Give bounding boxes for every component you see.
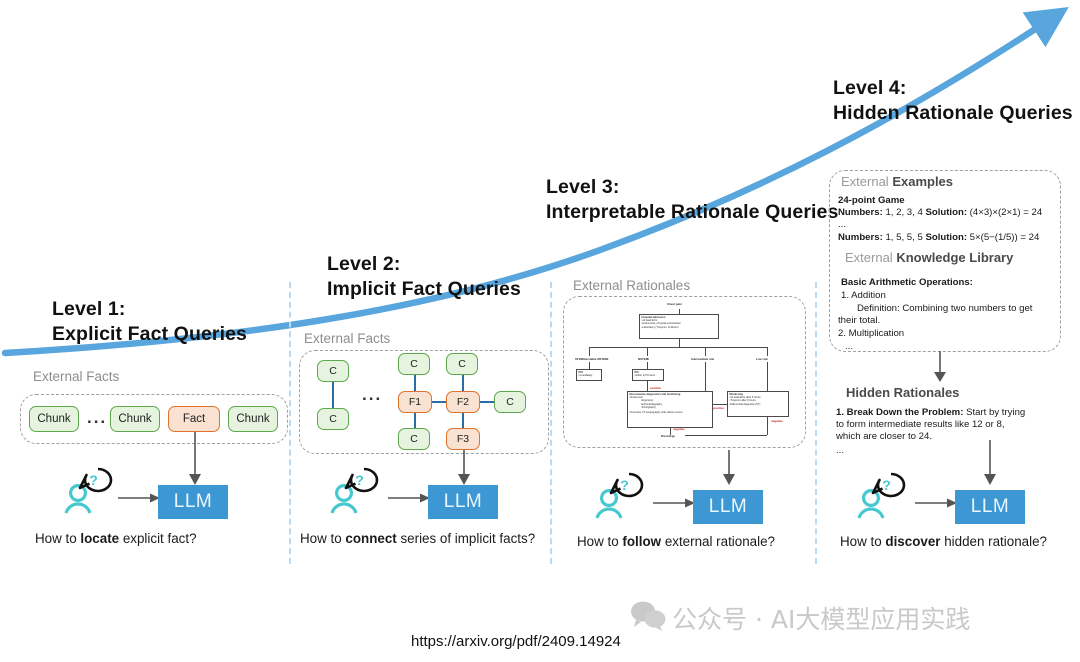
fc-admission-box: Hospital admission •12 lead ECG •Anamnes… (639, 314, 719, 339)
fc-mon-to-noninv (713, 404, 727, 405)
hidden-rationale-line3: which are closer to 24. (836, 430, 932, 444)
example-row-1-sol-key: Solution: (925, 207, 967, 218)
example-row-1-nums: 1, 2, 3, 4 (883, 207, 926, 218)
fc-admission-l3: •Laboratory (Troponin, D-Dimer) (642, 326, 717, 329)
hidden-rationale-ellipsis: ... (836, 444, 844, 458)
fc-stem-down (679, 339, 680, 347)
level-2-down-arrow (444, 450, 484, 488)
example-row-2: Numbers: 1, 5, 5, 5 Solution: 5×(5−(1/5)… (838, 231, 1039, 245)
level-3-section-label: External Rationales (573, 278, 690, 293)
fc-mon-down (767, 417, 768, 435)
level-1-heading: Level 1: Explicit Fact Queries (52, 297, 247, 347)
level-1-user-to-llm-arrow (118, 490, 162, 506)
fc-branch-3: Intermediate risk (691, 357, 714, 361)
graph-edge-a (332, 378, 334, 412)
graph-node-f1-label: F1 (409, 396, 421, 408)
svg-text:?: ? (355, 472, 364, 488)
level-1-question-caption: How to locate explicit fact? (35, 531, 197, 546)
chunk-chip-3-label: Chunk (236, 413, 269, 425)
kb-item-2: 2. Multiplication (838, 327, 904, 341)
panel-separator-2 (550, 282, 552, 564)
graph-node-c6-label: C (410, 433, 418, 445)
graph-node-f3-label: F3 (457, 433, 469, 445)
example-ellipsis: ... (838, 218, 846, 232)
chunk-chip-2: Chunk (110, 406, 160, 432)
fc-branch-2: NSTEMI (638, 357, 649, 361)
llm-box-4: LLM (955, 490, 1025, 524)
llm-box-1-label: LLM (174, 491, 212, 513)
clinical-flowchart: Chest pain Hospital admission •12 lead E… (575, 300, 797, 442)
level-4-caption-bold: discover (885, 534, 940, 549)
level-2-section-label: External Facts (304, 331, 390, 346)
kb-definition-line1: Definition: Combining two numbers to get (857, 302, 1032, 316)
level-1-caption-post: explicit fact? (119, 531, 196, 546)
fc-monitor-l3: •Differential diagnosis (CT) (730, 403, 787, 406)
wechat-logo-icon (629, 599, 667, 631)
graph-node-c1-label: C (329, 365, 337, 377)
level-1-caption-pre: How to (35, 531, 80, 546)
external-examples-dark: Examples (892, 174, 953, 189)
graph-node-c2-label: C (329, 413, 337, 425)
fc-monitoring-box: Monitoring •12 lead ECG after 6 hours •T… (727, 391, 789, 417)
graph-node-c5: C (494, 391, 526, 413)
level-4-panel-down-arrow (920, 351, 960, 385)
external-examples-grey: External (841, 174, 892, 189)
svg-text:?: ? (620, 477, 629, 493)
chunk-chip-3: Chunk (228, 406, 278, 432)
level-3-question-caption: How to follow external rationale? (577, 534, 775, 549)
example-title-text: 24-point Game (838, 195, 905, 206)
llm-box-3: LLM (693, 490, 763, 524)
level-2-caption-pre: How to (300, 531, 345, 546)
figure-canvas: Level 1: Explicit Fact Queries External … (0, 0, 1080, 662)
level-1-ellipsis: ... (87, 408, 107, 428)
fc-negative-2: negative (771, 419, 783, 423)
source-url: https://arxiv.org/pdf/2409.14924 (411, 633, 621, 650)
level-3-caption-pre: How to (577, 534, 622, 549)
fc-b3-down (705, 362, 706, 391)
example-row-1-key: Numbers: (838, 207, 883, 218)
fc-branch-4: Low risk (756, 357, 768, 361)
example-row-2-sol: 5×(5−(1/5)) = 24 (967, 232, 1039, 243)
level-4-caption-post: hidden rationale? (941, 534, 1047, 549)
level-2-caption-post: series of implicit facts? (397, 531, 535, 546)
fc-drop-1 (589, 347, 590, 356)
panel-separator-3 (815, 282, 817, 564)
level-2-heading: Level 2: Implicit Fact Queries (327, 252, 521, 302)
fc-noninv-l5: •Coronary CT-Angiography with calcium sc… (630, 411, 711, 414)
knowledge-library-grey: External (845, 250, 896, 265)
chunk-chip-2-label: Chunk (118, 413, 151, 425)
level-1-down-arrow (175, 432, 215, 488)
fc-drop-2 (647, 347, 648, 356)
llm-box-2: LLM (428, 485, 498, 519)
level-4-heading-line1: Level 4: (833, 76, 1073, 101)
fc-discharge: Discharge (661, 434, 675, 438)
chunk-chip-1-label: Chunk (37, 413, 70, 425)
kb-item-1: 1. Addition (841, 289, 886, 303)
level-2-ellipsis: ... (362, 385, 382, 405)
fact-chip-label: Fact (183, 413, 205, 425)
hidden-rationales-heading-text: Hidden Rationales (846, 385, 959, 400)
wechat-watermark-text: 公众号 · AI大模型应用实践 (672, 600, 970, 636)
fact-chip: Fact (168, 406, 220, 432)
level-2-caption-bold: connect (345, 531, 396, 546)
example-row-2-key: Numbers: (838, 232, 883, 243)
kb-title-text: Basic Arithmetic Operations: (841, 277, 973, 288)
llm-box-1: LLM (158, 485, 228, 519)
graph-node-f2-label: F2 (457, 396, 469, 408)
kb-ellipsis: ... (845, 340, 853, 354)
graph-node-c1: C (317, 360, 349, 382)
example-row-2-nums: 1, 5, 5, 5 (883, 232, 926, 243)
example-row-2-sol-key: Solution: (925, 232, 967, 243)
fc-noninv-l4: Scintigraphy (630, 406, 711, 409)
level-4-question-caption: How to discover hidden rationale? (840, 534, 1047, 549)
level-3-user-to-llm-arrow (653, 495, 697, 511)
knowledge-library-dark: Knowledge Library (896, 250, 1013, 265)
fc-b2-down (647, 362, 648, 369)
level-3-caption-post: external rationale? (661, 534, 775, 549)
fc-negative-1: negative (673, 427, 685, 431)
level-3-down-arrow (709, 450, 749, 488)
knowledge-library-heading: External Knowledge Library (845, 250, 1013, 265)
level-3-heading: Level 3: Interpretable Rationale Queries (546, 175, 838, 225)
fc-drop-3 (705, 347, 706, 356)
llm-box-3-label: LLM (709, 496, 747, 518)
fc-drop-4 (767, 347, 768, 356)
example-row-1-sol: (4×3)×(2×1) = 24 (967, 207, 1042, 218)
level-1-heading-line2: Explicit Fact Queries (52, 322, 247, 347)
chunk-chip-1: Chunk (29, 406, 79, 432)
llm-box-4-label: LLM (971, 496, 1009, 518)
fc-title: Chest pain (667, 302, 682, 306)
external-examples-heading: External Examples (841, 174, 953, 189)
level-3-heading-line2: Interpretable Rationale Queries (546, 200, 838, 225)
graph-node-c2: C (317, 408, 349, 430)
example-row-1: Numbers: 1, 2, 3, 4 Solution: (4×3)×(2×1… (838, 206, 1042, 220)
fc-pci2-box: PCI •within 1/72 hours (632, 369, 664, 381)
kb-definition-line2: their total. (838, 314, 880, 328)
level-1-section-label: External Facts (33, 369, 119, 384)
level-2-question-caption: How to connect series of implicit facts? (300, 531, 535, 546)
user-query-icon-2: ? (328, 466, 394, 516)
llm-box-2-label: LLM (444, 491, 482, 513)
fc-pci2-line: •within 1/72 hours (635, 374, 662, 377)
level-1-caption-bold: locate (80, 531, 119, 546)
panel-separator-1 (289, 282, 291, 564)
fc-positive-1: positive (650, 386, 661, 390)
level-4-down-arrow (970, 440, 1010, 488)
svg-text:?: ? (89, 472, 98, 488)
fc-pci1-line: immediately (579, 374, 600, 377)
fc-b1-down (589, 362, 590, 369)
level-2-heading-line1: Level 2: (327, 252, 521, 277)
fc-mon-to-discharge (685, 435, 767, 436)
level-4-caption-pre: How to (840, 534, 885, 549)
level-3-heading-line1: Level 3: (546, 175, 838, 200)
graph-node-c6: C (398, 428, 430, 450)
level-1-heading-line1: Level 1: (52, 297, 247, 322)
graph-node-f2: F2 (446, 391, 480, 413)
fc-branch-1: STEMI/unstable NSTEMI (575, 357, 608, 361)
fc-noninvasive-box: Non-invasive diagnostics and monitoring … (627, 391, 713, 428)
level-4-heading-line2: Hidden Rationale Queries (833, 101, 1073, 126)
fc-positive-2: positive (713, 406, 724, 410)
hidden-rationales-heading: Hidden Rationales (846, 385, 959, 400)
graph-node-c5-label: C (506, 396, 514, 408)
fc-b4-down (767, 362, 768, 391)
hidden-rationale-item-text: Start by trying (963, 407, 1025, 418)
graph-node-c4: C (446, 353, 478, 375)
level-4-heading: Level 4: Hidden Rationale Queries (833, 76, 1073, 126)
graph-node-f3: F3 (446, 428, 480, 450)
graph-node-c4-label: C (458, 358, 466, 370)
hidden-rationale-item-bold: 1. Break Down the Problem: (836, 407, 963, 418)
level-2-user-to-llm-arrow (388, 490, 432, 506)
kb-title: Basic Arithmetic Operations: (841, 276, 973, 290)
user-query-icon-3: ? (593, 471, 659, 521)
svg-text:?: ? (882, 477, 891, 493)
graph-node-c3: C (398, 353, 430, 375)
graph-node-c3-label: C (410, 358, 418, 370)
fc-bus (589, 347, 767, 348)
level-4-user-to-llm-arrow (915, 495, 959, 511)
user-query-icon-4: ? (855, 471, 921, 521)
level-3-caption-bold: follow (622, 534, 661, 549)
fc-pci1-box: PCI immediately (576, 369, 602, 381)
graph-node-f1: F1 (398, 391, 432, 413)
level-2-heading-line2: Implicit Fact Queries (327, 277, 521, 302)
